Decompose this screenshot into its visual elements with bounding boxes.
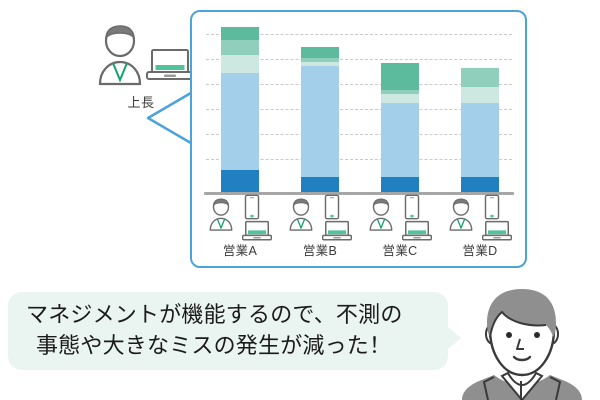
category-icons [200,196,280,240]
chart-bar-segment [461,103,499,176]
person-icon [446,196,476,232]
chart-bar-segment [301,177,339,192]
chart-category-4: 営業D [440,196,520,240]
laptop-icon [146,48,194,82]
chart-bar [301,47,339,192]
category-label: 営業D [440,240,520,259]
chart-bar [221,27,259,192]
smartphone-icon [324,194,340,220]
chart-bar [461,68,499,192]
category-icons [360,196,440,240]
screenshot-root: 上長 営業A 営業B 営業C [0,0,600,400]
smartphone-icon [484,194,500,220]
laptop-icon [482,220,512,242]
chart-bar-segment [221,27,259,39]
laptop-icon [402,220,432,242]
smartphone-icon [244,194,260,220]
speech-bubble-text: マネジメントが機能するので、不測の 事態や大きなミスの発生が減った！ [26,300,430,362]
chart-panel: 営業A 営業B 営業C 営業D [190,10,527,268]
chart-bar-segment [301,66,339,177]
chart-bar-segment [461,87,499,104]
chart-category-2: 営業B [280,196,360,240]
speech-bubble: マネジメントが機能するので、不測の 事態や大きなミスの発生が減った！ [8,292,448,370]
person-icon [206,196,236,232]
category-icons [280,196,360,240]
chart-bar-segment [461,177,499,192]
chart-bar-segment [381,177,419,192]
laptop-icon [242,220,272,242]
chart-category-axis: 営業A 営業B 営業C 営業D [200,196,520,262]
laptop-icon [322,220,352,242]
speech-line-1: マネジメントが機能するので、不測の [26,300,430,331]
chart-category-1: 営業A [200,196,280,240]
bar-chart-plot [200,26,520,194]
supervisor-icons [86,22,196,88]
chart-category-3: 営業C [360,196,440,240]
person-icon [366,196,396,232]
chart-bar-segment [381,63,419,89]
speech-line-2: 事態や大きなミスの発生が減った！ [26,331,430,362]
category-label: 営業A [200,240,280,259]
chart-bar-segment [221,170,259,192]
chart-bar-segment [381,103,419,176]
chart-bar-segment [461,68,499,87]
chart-bar-segment [221,55,259,73]
chart-bar-segment [221,40,259,55]
man-avatar-icon [452,285,592,400]
chart-bar-segment [381,94,419,104]
category-icons [440,196,520,240]
person-icon [92,22,148,86]
category-label: 営業C [360,240,440,259]
person-icon [286,196,316,232]
chart-bar [381,63,419,192]
chart-bar-segment [301,47,339,58]
chart-bar-segment [221,73,259,170]
category-label: 営業B [280,240,360,259]
smartphone-icon [404,194,420,220]
